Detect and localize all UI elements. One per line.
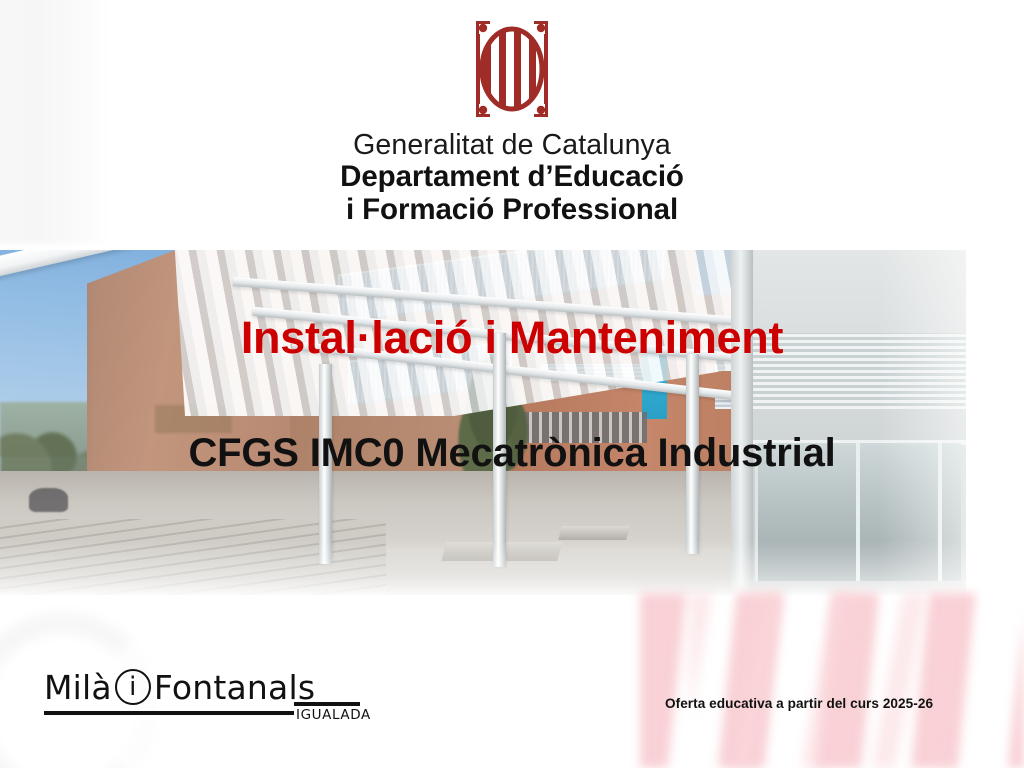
org-name-line3: i Formació Professional [0, 193, 1024, 226]
generalitat-logo-block: Generalitat de Catalunya Departament d’E… [0, 16, 1024, 226]
school-logo-word1: Milà [44, 671, 112, 704]
course-family-title: Instal·lació i Manteniment [0, 312, 1024, 364]
generalitat-shield-icon [471, 16, 553, 122]
photo-bottom-fade [0, 540, 966, 595]
senyera-flag-watermark [640, 593, 1024, 768]
school-logo-word2: Fontanals [154, 671, 315, 704]
school-logo-underline [44, 711, 294, 715]
presentation-slide: Generalitat de Catalunya Departament d’E… [0, 0, 1024, 768]
school-logo-city-rule [294, 702, 360, 706]
senyera-flag-watermark-soft [690, 593, 950, 768]
org-name-line1: Generalitat de Catalunya [0, 130, 1024, 160]
bench-b [559, 526, 630, 540]
school-logo-city: IGUALADA [296, 707, 371, 723]
school-logo: Milà i Fontanals IGUALADA [44, 669, 315, 721]
offer-note: Oferta educativa a partir del curs 2025-… [665, 696, 933, 711]
school-photo [0, 250, 966, 595]
motorcycle [29, 488, 68, 512]
course-name-subtitle: CFGS IMC0 Mecatrònica Industrial [132, 428, 892, 479]
org-name-line2: Departament d’Educació [0, 160, 1024, 193]
circled-i-icon: i [115, 669, 151, 705]
